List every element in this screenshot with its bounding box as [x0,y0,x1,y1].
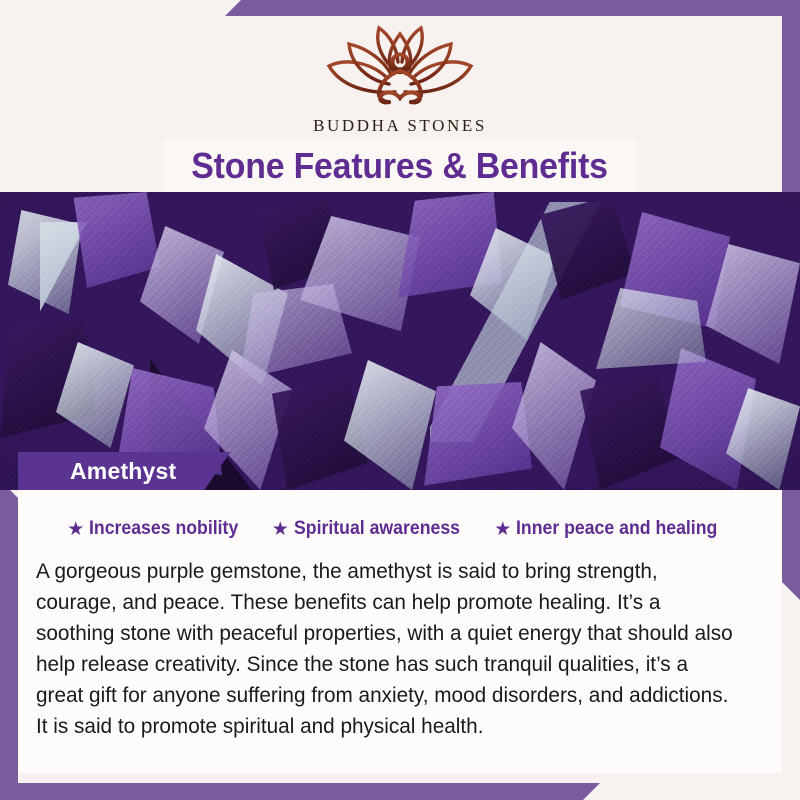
frame-band-bottom [0,783,600,800]
brand-logo: BUDDHA STONES [0,18,800,136]
stone-name-banner: Amethyst [18,452,230,490]
frame-band-left [0,480,18,800]
feature-label: Inner peace and healing [516,518,717,540]
infographic-page: BUDDHA STONES Stone Features & Benefits [0,0,800,800]
stone-description: A gorgeous purple gemstone, the amethyst… [36,556,740,742]
frame-band-top [225,0,800,16]
amethyst-crystal-cluster-photo [0,192,800,490]
photo-vignette-layer [0,192,800,490]
star-icon: ★ [272,520,289,539]
brand-name: BUDDHA STONES [0,116,800,136]
stone-name: Amethyst [70,458,176,485]
star-icon: ★ [67,520,84,539]
feature-label: Increases nobility [89,518,238,540]
feature-item: ★ Increases nobility [67,518,250,540]
feature-item: ★ Spiritual awareness [272,518,473,540]
star-icon: ★ [494,520,511,539]
stone-features-list: ★ Increases nobility ★ Spiritual awarene… [18,518,782,540]
page-title-band: Stone Features & Benefits [163,140,637,192]
feature-item: ★ Inner peace and healing [494,518,733,540]
feature-label: Spiritual awareness [294,518,460,540]
page-title: Stone Features & Benefits [192,145,609,187]
lotus-meditation-figure-icon [315,18,485,114]
